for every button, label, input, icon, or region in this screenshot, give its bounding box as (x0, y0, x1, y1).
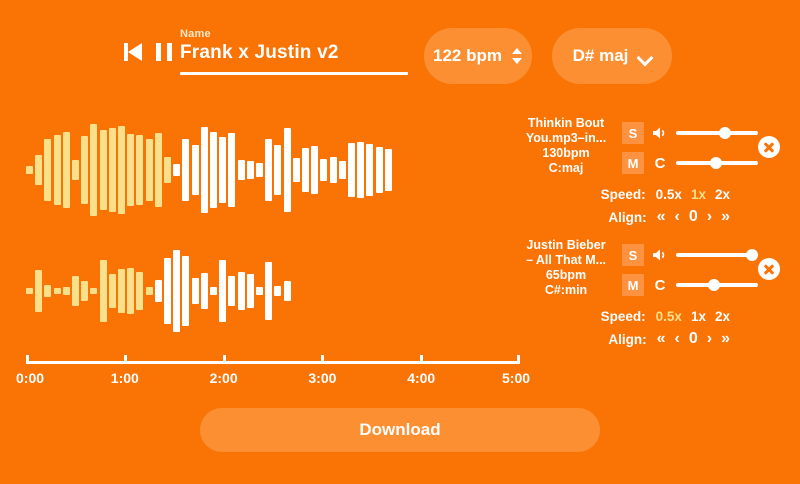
waveform-bar (35, 155, 42, 185)
waveform-bar (330, 157, 337, 183)
waveform-bar (339, 161, 346, 179)
pan-slider-knob[interactable] (710, 157, 722, 169)
align-fast-forward-button[interactable]: » (721, 331, 730, 347)
name-field: Name Frank x Justin v2 (180, 28, 408, 75)
waveform-bar (256, 163, 263, 177)
track-bpm: 130bpm (514, 146, 618, 161)
mute-button[interactable]: M (622, 152, 644, 174)
waveform-bar (201, 273, 208, 309)
speed-option[interactable]: 0.5x (656, 309, 682, 324)
timeline-label: 0:00 (16, 370, 44, 386)
speed-option[interactable]: 1x (691, 187, 706, 202)
timeline-label: 5:00 (502, 370, 530, 386)
waveform-bar (274, 286, 281, 296)
waveform-bar (146, 287, 153, 296)
waveform-bar (320, 159, 327, 181)
waveform-bar (182, 256, 189, 327)
waveform-bar (54, 135, 61, 205)
timeline-tick (517, 355, 520, 364)
timeline-ruler[interactable]: 0:001:002:003:004:005:00 (26, 352, 520, 390)
waveform-bar (357, 142, 364, 198)
header: Name Frank x Justin v2 122 bpm D# maj (0, 0, 800, 100)
waveform-bar (54, 288, 61, 293)
waveform-bar (90, 124, 97, 216)
track-panel: Justin Bieber – All That M... 65bpm C#:m… (514, 234, 784, 346)
timeline-label: 2:00 (210, 370, 238, 386)
waveform-bar (274, 145, 281, 195)
waveform-bar (210, 132, 217, 208)
align-control-row: Align: « ‹ 0 › » (514, 209, 730, 225)
align-fast-back-button[interactable]: « (657, 331, 666, 347)
align-fast-back-button[interactable]: « (657, 209, 666, 225)
spinner-updown-icon[interactable] (512, 48, 523, 64)
waveform-bar (44, 139, 51, 201)
timeline-label: 3:00 (308, 370, 336, 386)
waveform-bar (247, 161, 254, 179)
speed-control-row: Speed: 0.5x 1x 2x (514, 309, 730, 324)
volume-slider-track (676, 131, 758, 135)
waveform-bar (155, 133, 162, 207)
key-select[interactable]: D# maj (552, 28, 672, 84)
key-value: D# maj (573, 46, 629, 66)
align-control-row: Align: « ‹ 0 › » (514, 331, 730, 347)
track-key: C#:min (514, 283, 618, 298)
waveform-bar (118, 126, 125, 214)
waveform-bar (228, 276, 235, 307)
speed-option[interactable]: 1x (691, 309, 706, 324)
waveform-bar (44, 285, 51, 297)
audio-mixer-app: Name Frank x Justin v2 122 bpm D# maj 0:… (0, 0, 800, 484)
waveform-bar (72, 160, 79, 180)
speed-control-row: Speed: 0.5x 1x 2x (514, 187, 730, 202)
track-metadata: Thinkin Bout You.mp3–in... 130bpm C:maj (514, 116, 618, 176)
chevron-down-icon[interactable] (638, 52, 651, 60)
waveform-bottom[interactable] (26, 248, 326, 334)
bpm-stepper[interactable]: 122 bpm (424, 28, 532, 84)
solo-button[interactable]: S (622, 122, 644, 144)
waveform-bar (201, 127, 208, 213)
volume-slider-knob[interactable] (746, 249, 758, 261)
waveform-bar (348, 143, 355, 197)
pan-icon: C (650, 275, 670, 295)
waveform-bar (164, 157, 171, 183)
waveform-bar (192, 145, 199, 195)
track-key: C:maj (514, 161, 618, 176)
waveform-bar (219, 137, 226, 203)
download-button[interactable]: Download (200, 408, 600, 452)
waveform-bar (26, 166, 33, 174)
waveform-bar (385, 149, 392, 191)
waveform-bar (219, 260, 226, 322)
volume-slider[interactable] (676, 245, 758, 265)
timeline-label: 1:00 (111, 370, 139, 386)
waveform-bar (238, 272, 245, 310)
waveform-bar (136, 272, 143, 310)
track-bpm: 65bpm (514, 268, 618, 283)
waveform-bar (155, 280, 162, 302)
align-forward-button[interactable]: › (707, 209, 712, 225)
align-value: 0 (689, 209, 698, 225)
waveform-bar (26, 288, 33, 295)
bpm-value: 122 bpm (433, 46, 502, 66)
track-metadata: Justin Bieber – All That M... 65bpm C#:m… (514, 238, 618, 298)
waveform-bar (146, 139, 153, 201)
speed-option[interactable]: 2x (715, 309, 730, 324)
waveform-bar (265, 262, 272, 320)
track-title-line2: You.mp3–in... (514, 131, 618, 146)
waveform-bar (293, 158, 300, 182)
waveform-bar (284, 128, 291, 212)
waveform-bar (265, 139, 272, 201)
align-back-button[interactable]: ‹ (675, 331, 680, 347)
speed-option[interactable]: 2x (715, 187, 730, 202)
waveform-bar (228, 133, 235, 207)
waveform-bar (284, 281, 291, 302)
track-title-line2: – All That M... (514, 253, 618, 268)
timeline-line (26, 361, 520, 364)
waveform-bar (376, 147, 383, 193)
waveform-bar (63, 132, 70, 208)
waveform-bar (100, 260, 107, 322)
align-label: Align: (608, 332, 646, 347)
waveform-bar (173, 250, 180, 333)
timeline-tick (26, 355, 29, 364)
waveform-bar (100, 130, 107, 210)
timeline-tick (223, 355, 226, 364)
waveform-bar (63, 287, 70, 296)
close-icon[interactable] (758, 258, 780, 280)
waveform-bar (118, 269, 125, 314)
transport-controls (124, 43, 172, 61)
pan-slider-knob[interactable] (708, 279, 720, 291)
pan-slider[interactable] (676, 275, 758, 295)
waveform-bar (247, 274, 254, 308)
track-title-line1: Justin Bieber (514, 238, 618, 253)
name-input-underline (180, 72, 408, 75)
pan-icon: C (650, 153, 670, 173)
speaker-icon (650, 123, 670, 143)
waveform-bar (210, 287, 217, 296)
waveform-top[interactable] (26, 120, 396, 220)
waveform-bar (72, 276, 79, 305)
waveform-bar (164, 258, 171, 323)
waveform-bar (81, 136, 88, 204)
track-panel: Thinkin Bout You.mp3–in... 130bpm C:maj … (514, 112, 784, 222)
speed-option[interactable]: 0.5x (656, 187, 682, 202)
waveform-bar (238, 160, 245, 180)
align-label: Align: (608, 210, 646, 225)
speaker-icon (650, 245, 670, 265)
waveform-bar (192, 278, 199, 304)
waveform-bar (182, 139, 189, 201)
mute-button[interactable]: M (622, 274, 644, 296)
pause-icon[interactable] (156, 43, 172, 61)
timeline-tick (124, 355, 127, 364)
align-value: 0 (689, 331, 698, 347)
waveform-bar (302, 148, 309, 192)
align-fast-forward-button[interactable]: » (721, 209, 730, 225)
align-back-button[interactable]: ‹ (675, 209, 680, 225)
waveform-bar (136, 135, 143, 205)
close-icon[interactable] (758, 136, 780, 158)
waveform-bar (366, 144, 373, 196)
skip-back-icon[interactable] (124, 43, 143, 61)
waveform-bar (90, 288, 97, 295)
track-title-line1: Thinkin Bout (514, 116, 618, 131)
waveform-bar (256, 287, 263, 296)
name-input[interactable]: Frank x Justin v2 (180, 42, 408, 72)
waveform-top-bars (26, 120, 396, 220)
waveform-bar (81, 281, 88, 302)
align-forward-button[interactable]: › (707, 331, 712, 347)
timeline-tick (420, 355, 423, 364)
waveform-bar (35, 270, 42, 311)
waveform-bottom-bars (26, 248, 326, 334)
pan-slider[interactable] (676, 153, 758, 173)
volume-slider[interactable] (676, 123, 758, 143)
waveform-bar (109, 274, 116, 308)
solo-button[interactable]: S (622, 244, 644, 266)
waveform-bar (173, 164, 180, 176)
timeline-tick (321, 355, 324, 364)
waveform-bar (109, 128, 116, 212)
speed-label: Speed: (601, 309, 646, 324)
name-field-label: Name (180, 28, 408, 40)
volume-slider-knob[interactable] (719, 127, 731, 139)
timeline-label: 4:00 (407, 370, 435, 386)
waveform-bar (311, 146, 318, 194)
waveform-bar (127, 134, 134, 206)
waveform-bar (127, 268, 134, 314)
speed-label: Speed: (601, 187, 646, 202)
